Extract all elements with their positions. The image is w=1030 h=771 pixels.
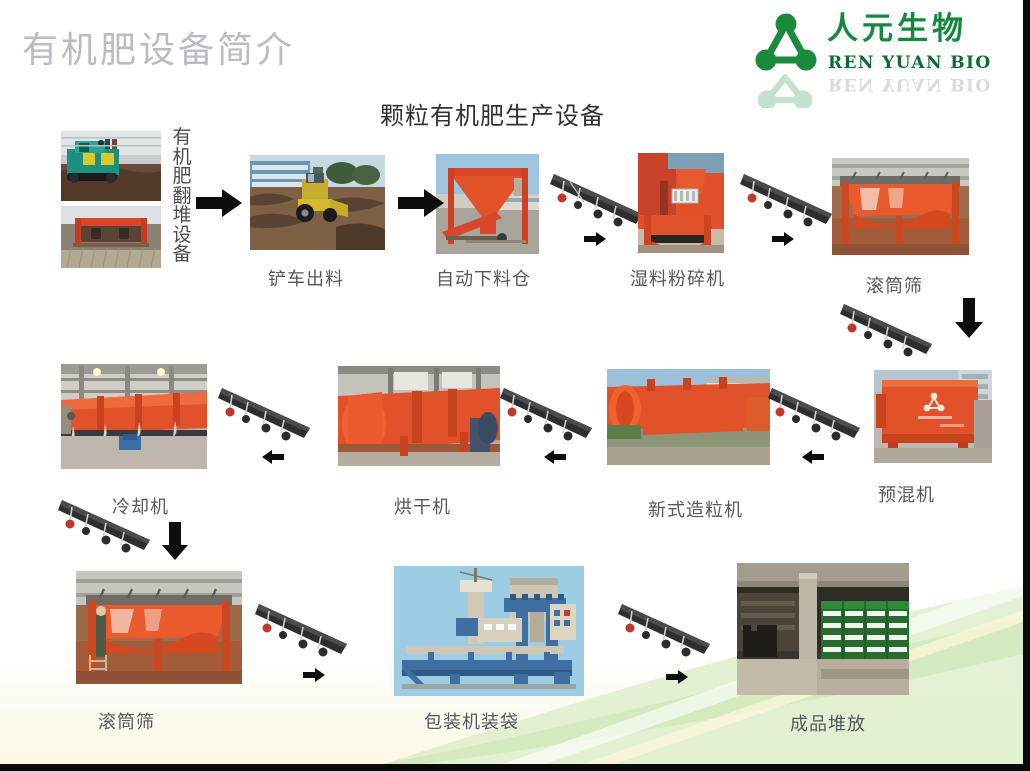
conveyor-belt-2 bbox=[740, 168, 836, 230]
logo-chinese-name: 人元生物 bbox=[827, 14, 967, 45]
photo-granulator bbox=[607, 369, 770, 465]
arrow-left-small-2 bbox=[544, 450, 566, 464]
photo-premixer bbox=[874, 370, 992, 463]
subtitle: 颗粒有机肥生产设备 bbox=[380, 96, 605, 131]
photo-wet-material-crusher bbox=[638, 153, 724, 253]
conveyor-belt-5 bbox=[500, 382, 596, 444]
photo-wheel-loader bbox=[250, 155, 385, 250]
caption-row2-0: 冷却机 bbox=[112, 493, 169, 519]
caption-row3-2: 成品堆放 bbox=[790, 710, 866, 736]
arrow-right-small-3 bbox=[303, 668, 325, 682]
photo-drum-screen-1 bbox=[832, 158, 969, 255]
company-logo: 人元生物 REN YUAN BIO REN YUAN BIO bbox=[755, 8, 1005, 108]
caption-row1-3: 滚筒筛 bbox=[866, 272, 923, 298]
molecule-trefoil-icon bbox=[755, 13, 817, 75]
arrow-left-small-1 bbox=[262, 450, 284, 464]
photo-finished-product-warehouse bbox=[737, 563, 909, 695]
photo-dryer bbox=[338, 366, 500, 466]
caption-row1-0: 铲车出料 bbox=[268, 265, 344, 291]
arrow-right-large-2 bbox=[398, 188, 444, 218]
arrow-down-large-2 bbox=[161, 522, 189, 560]
slide-root: 有机肥设备简介 颗粒有机肥生产设备 人元生物 REN YUAN BIO REN … bbox=[0, 0, 1030, 771]
conveyor-belt-6 bbox=[768, 382, 864, 444]
caption-row3-0: 滚筒筛 bbox=[98, 708, 155, 734]
photo-auto-feeding-hopper bbox=[436, 154, 539, 254]
caption-row1-1: 自动下料仓 bbox=[436, 265, 531, 291]
photo-compost-turner-green bbox=[61, 131, 161, 201]
conveyor-belt-4 bbox=[218, 382, 314, 444]
arrow-right-small-4 bbox=[666, 670, 688, 684]
arrow-right-large-1 bbox=[196, 188, 242, 218]
logo-reflection-text: REN YUAN BIO bbox=[828, 74, 992, 94]
caption-row2-1: 烘干机 bbox=[394, 493, 451, 519]
photo-drum-screen-2 bbox=[76, 571, 242, 684]
vertical-label-turner-equipment: 有机肥翻堆设备 bbox=[172, 128, 192, 265]
caption-row2-2: 新式造粒机 bbox=[648, 496, 743, 522]
arrow-right-small-2 bbox=[772, 232, 794, 246]
photo-bagging-machine bbox=[394, 566, 584, 696]
arrow-down-large-1 bbox=[954, 298, 984, 338]
conveyor-belt-9 bbox=[618, 598, 714, 660]
conveyor-belt-1 bbox=[550, 168, 646, 230]
caption-row1-2: 湿料粉碎机 bbox=[630, 265, 725, 291]
caption-row3-1: 包装机装袋 bbox=[424, 708, 519, 734]
caption-row2-3: 预混机 bbox=[878, 481, 935, 507]
photo-compost-turner-red bbox=[61, 206, 161, 268]
conveyor-belt-3 bbox=[840, 298, 936, 360]
logo-mark-reflection bbox=[757, 74, 813, 108]
logo-english-name: REN YUAN BIO bbox=[828, 53, 992, 73]
arrow-left-small-3 bbox=[802, 450, 824, 464]
photo-cooler bbox=[61, 364, 207, 469]
arrow-right-small-1 bbox=[584, 232, 606, 246]
conveyor-belt-8 bbox=[255, 598, 351, 660]
page-title: 有机肥设备简介 bbox=[22, 33, 295, 69]
